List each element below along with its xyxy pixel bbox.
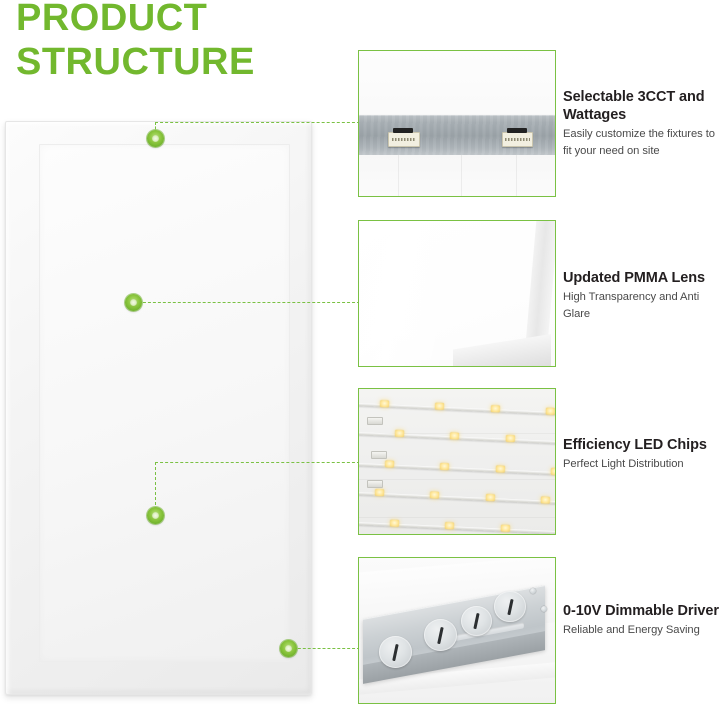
feature-image-cct-selector (358, 50, 556, 197)
product-panel-image (5, 121, 312, 695)
panel-lens-surface (39, 144, 290, 662)
feature-callout-lens: Updated PMMA Lens High Transparency and … (563, 269, 720, 323)
feature-callout-cct: Selectable 3CCT and Wattages Easily cust… (563, 88, 720, 160)
driver-knockout-4 (494, 591, 525, 621)
panel-lower-surface (359, 155, 555, 196)
infographic-canvas: PRODUCT STRUCTURE (0, 0, 720, 703)
led-wire-connector-2 (371, 451, 387, 459)
feature-sub-lens: High Transparency and Anti Glare (563, 289, 720, 323)
feature-heading-driver: 0-10V Dimmable Driver (563, 602, 720, 620)
feature-heading-led: Efficiency LED Chips (563, 436, 720, 454)
feature-heading-cct: Selectable 3CCT and Wattages (563, 88, 720, 124)
feature-sub-led: Perfect Light Distribution (563, 456, 720, 473)
connector-line-4-horizontal (288, 648, 360, 649)
hotspot-marker-4-driver[interactable] (280, 640, 297, 657)
connector-line-2-horizontal (133, 302, 360, 303)
hotspot-marker-2-lens[interactable] (125, 294, 142, 311)
feature-heading-lens: Updated PMMA Lens (563, 269, 720, 287)
feature-image-dimmable-driver (358, 557, 556, 704)
feature-image-led-chips (358, 388, 556, 535)
led-wire-connector-1 (367, 417, 383, 425)
feature-image-pmma-lens (358, 220, 556, 367)
hotspot-marker-3-led[interactable] (147, 507, 164, 524)
page-title: PRODUCT STRUCTURE (16, 0, 346, 84)
hotspot-marker-1-cct[interactable] (147, 130, 164, 147)
driver-screw-1 (530, 588, 536, 594)
connector-line-1-horizontal (155, 122, 360, 123)
feature-callout-driver: 0-10V Dimmable Driver Reliable and Energ… (563, 602, 720, 639)
cct-dip-switch-right (502, 132, 533, 147)
driver-knockout-1 (379, 636, 412, 668)
feature-sub-cct: Easily customize the fixtures to fit you… (563, 126, 720, 160)
connector-line-3-horizontal (155, 462, 360, 463)
cct-dip-switch-left (388, 132, 419, 147)
feature-callout-led: Efficiency LED Chips Perfect Light Distr… (563, 436, 720, 473)
driver-knockout-2 (424, 619, 457, 651)
led-wire-connector-3 (367, 480, 383, 488)
feature-sub-driver: Reliable and Energy Saving (563, 622, 720, 639)
